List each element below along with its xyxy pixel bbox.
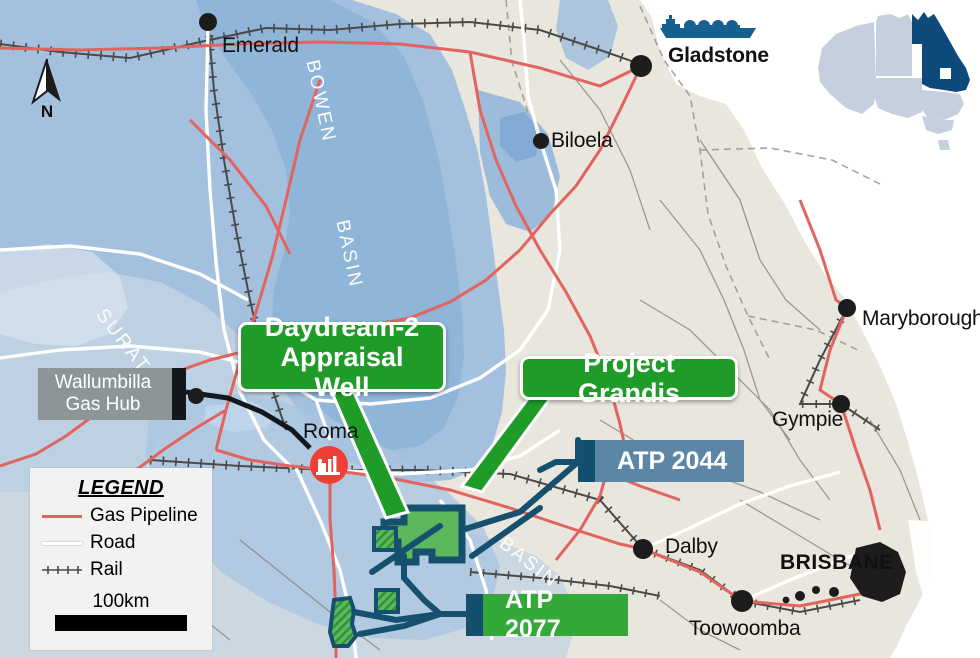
- project-grandis-label: Project Grandis: [537, 348, 721, 408]
- road-key: [40, 536, 84, 550]
- place-label-brisbane: BRISBANE: [780, 551, 894, 575]
- wallumbilla-gas-hub-chip[interactable]: Wallumbilla Gas Hub: [38, 368, 186, 420]
- legend-gas-pipeline: Gas Pipeline: [40, 505, 212, 527]
- city-dot-wallumbilla: [188, 388, 204, 404]
- place-label-toowoomba: Toowoomba: [689, 617, 800, 641]
- gas-pipeline-key: [40, 509, 84, 523]
- project-location-map: N Emerald Gladstone Biloela Maryborough …: [0, 0, 980, 658]
- atp-2077-label: ATP 2077: [505, 586, 612, 644]
- north-arrow-icon: [30, 58, 64, 106]
- legend-road-label: Road: [90, 532, 135, 554]
- scale-bar-label: 100km: [30, 591, 212, 613]
- place-label-gladstone: Gladstone: [668, 44, 769, 68]
- city-dot-biloela: [533, 133, 549, 149]
- project-grandis-callout[interactable]: Project Grandis: [520, 356, 738, 400]
- place-label-emerald: Emerald: [222, 34, 299, 58]
- city-dot-emerald: [199, 13, 217, 31]
- city-dot-dalby: [633, 539, 653, 559]
- rail-symbol-icon: [40, 563, 84, 577]
- place-label-dalby: Dalby: [665, 535, 718, 559]
- western-australia: [818, 22, 876, 114]
- place-label-maryborough: Maryborough: [862, 307, 980, 331]
- rail-key: [40, 563, 84, 577]
- legend-rail: Rail: [40, 559, 212, 581]
- place-label-biloela: Biloela: [551, 129, 613, 153]
- tasmania: [938, 140, 950, 150]
- legend-gas-pipeline-label: Gas Pipeline: [90, 505, 198, 527]
- legend-title: LEGEND: [30, 477, 212, 500]
- daydream-2-line2: Appraisal Well: [255, 342, 429, 402]
- new-south-wales: [922, 90, 964, 120]
- project-area-marker: [940, 68, 951, 79]
- compass-n-label: N: [30, 102, 64, 122]
- wallumbilla-line2: Gas Hub: [66, 394, 141, 416]
- lng-ship-icon: [658, 12, 758, 40]
- atp-2044-label: ATP 2044: [617, 447, 727, 476]
- city-dot-toowoomba: [731, 590, 753, 612]
- wallumbilla-line1: Wallumbilla: [55, 372, 151, 394]
- australia-outline: [818, 12, 970, 150]
- scale-bar: [55, 615, 187, 631]
- map-legend: LEGEND Gas Pipeline Road: [30, 468, 212, 650]
- gas-plant-icon: [310, 446, 348, 484]
- legend-rail-label: Rail: [90, 559, 123, 581]
- north-arrow: N: [30, 58, 64, 120]
- daydream-2-line1: Daydream-2: [265, 312, 420, 342]
- australia-inset-map: [812, 4, 976, 152]
- place-label-gympie: Gympie: [772, 408, 843, 432]
- daydream-2-callout[interactable]: Daydream-2 Appraisal Well: [238, 322, 446, 392]
- city-dot-gladstone: [630, 55, 652, 77]
- legend-road: Road: [40, 532, 212, 554]
- south-australia: [874, 78, 922, 118]
- place-label-roma: Roma: [303, 420, 358, 444]
- city-dot-maryborough: [838, 299, 856, 317]
- scale-bar-group: 100km: [30, 591, 212, 631]
- northern-territory: [876, 14, 912, 76]
- atp-2044-chip[interactable]: ATP 2044: [578, 440, 744, 482]
- roma-gas-facility-marker[interactable]: [310, 446, 348, 484]
- atp-2077-chip[interactable]: ATP 2077: [466, 594, 628, 636]
